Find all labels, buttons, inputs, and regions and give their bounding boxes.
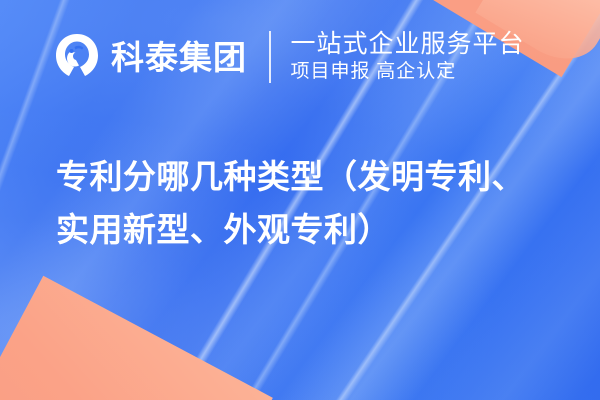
article-title-line-1: 专利分哪几种类型（发明专利、 [56,150,556,203]
article-title-line-2: 实用新型、外观专利） [56,203,556,256]
brand-header: 科泰集团 一站式企业服务平台 项目申报 高企认定 [52,28,525,86]
brand-slogan-block: 一站式企业服务平台 项目申报 高企认定 [291,30,525,84]
brand-slogan-main: 一站式企业服务平台 [291,30,525,58]
brand-name: 科泰集团 [111,41,247,74]
article-cover-banner: 科泰集团 一站式企业服务平台 项目申报 高企认定 专利分哪几种类型（发明专利、 … [0,0,600,400]
brand-divider [269,31,271,83]
brand-slogan-sub: 项目申报 高企认定 [291,61,525,84]
article-title: 专利分哪几种类型（发明专利、 实用新型、外观专利） [56,150,556,257]
company-logo-icon [52,32,102,82]
